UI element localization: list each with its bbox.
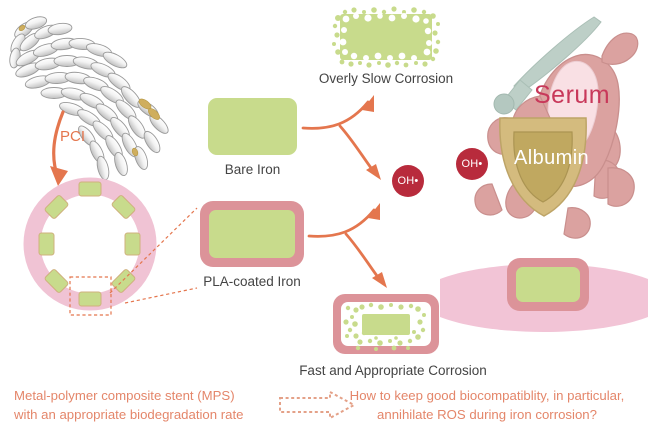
pla-iron-core: [209, 210, 295, 258]
serum-albumin-knight-illustration: [468, 0, 648, 250]
serum-label: Serum: [534, 81, 610, 110]
albumin-label: Albumin: [514, 147, 589, 170]
figure-canvas: PCI Bare Iron: [0, 0, 648, 444]
footer-right-line1: How to keep good biocompatiblity, in par…: [332, 386, 642, 405]
footer-right-caption: How to keep good biocompatiblity, in par…: [332, 386, 642, 424]
footer-right-line2: annihilate ROS during iron corrosion?: [332, 405, 642, 424]
implanted-pla-block: [507, 258, 589, 311]
pci-label: PCI: [60, 128, 85, 145]
pla-coated-iron-label: PLA-coated Iron: [192, 274, 312, 290]
overly-slow-corrosion-label: Overly Slow Corrosion: [306, 71, 466, 87]
overly-slow-corrosion-graphic: [326, 6, 446, 68]
bare-iron-label: Bare Iron: [208, 162, 297, 178]
implanted-pla-core: [516, 267, 580, 302]
fast-corrosion-label: Fast and Appropriate Corrosion: [298, 363, 488, 379]
oh-radical-left: OH•: [392, 165, 424, 197]
fast-corrosion-graphic: [328, 290, 458, 358]
footer-left-line2: with an appropriate biodegradation rate: [14, 405, 272, 424]
pla-coated-iron-block: [200, 201, 304, 267]
bare-iron-fork-arrow: [300, 92, 410, 208]
bare-iron-block: [208, 98, 297, 155]
footer-left-caption: Metal-polymer composite stent (MPS) with…: [14, 386, 272, 424]
footer-left-line1: Metal-polymer composite stent (MPS): [14, 386, 272, 405]
